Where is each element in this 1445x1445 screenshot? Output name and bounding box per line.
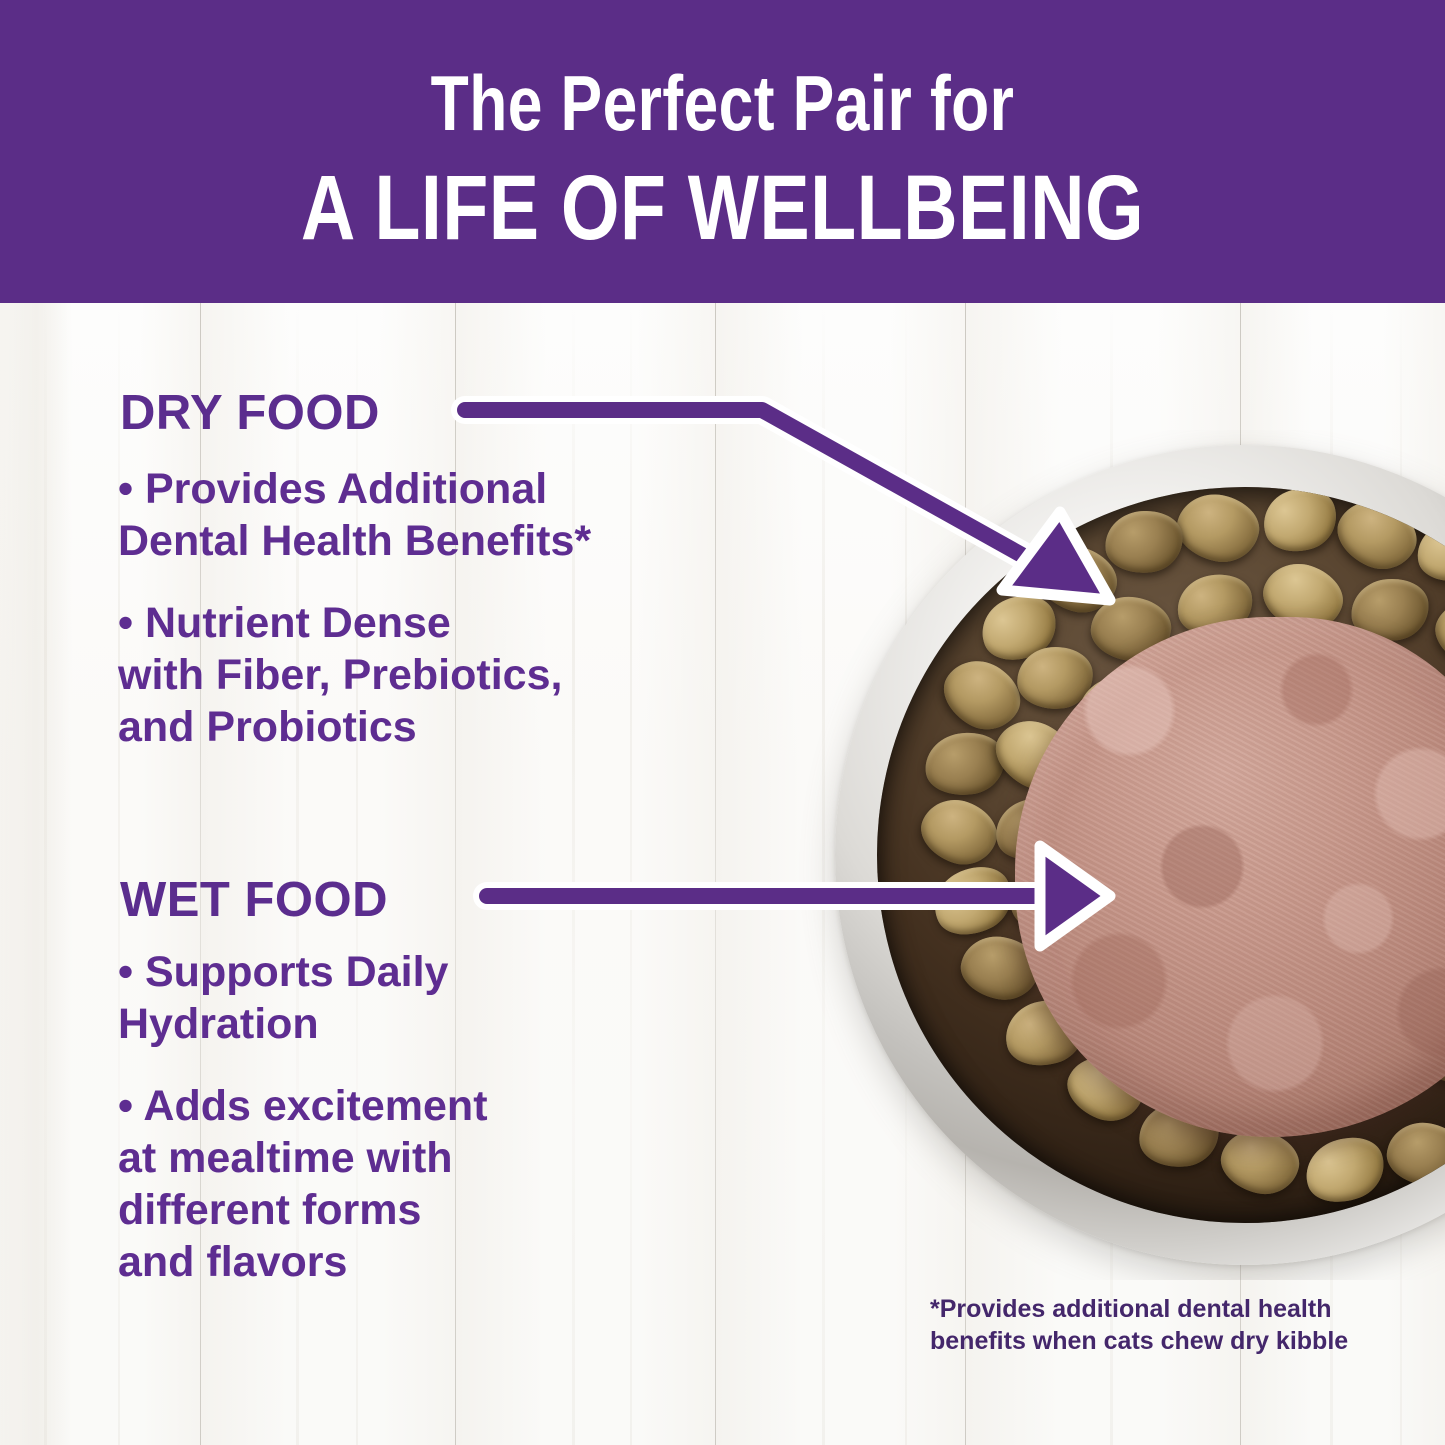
bullet-item: • Adds excitement at mealtime with diffe…: [118, 1080, 758, 1288]
callout-bullets-dry-food: • Provides Additional Dental Health Bene…: [118, 463, 758, 753]
callout-title-dry-food: DRY FOOD: [120, 385, 380, 441]
bullet-item: • Nutrient Dense with Fiber, Prebiotics,…: [118, 597, 758, 753]
bullet-item: • Supports Daily Hydration: [118, 946, 758, 1050]
bullet-line: different forms: [118, 1186, 421, 1234]
bullet-line: • Adds excitement: [118, 1082, 488, 1130]
bullet-line: • Provides Additional: [118, 465, 547, 513]
header-banner: The Perfect Pair for A LIFE OF WELLBEING: [0, 0, 1445, 303]
bullet-line: at mealtime with: [118, 1134, 453, 1182]
marketing-infographic: The Perfect Pair for A LIFE OF WELLBEING: [0, 0, 1445, 1445]
bullet-line: and Probiotics: [118, 703, 417, 751]
steel-bowl: [835, 445, 1445, 1265]
wet-food-pate: [1015, 617, 1445, 1137]
bullet-line: • Supports Daily: [118, 948, 448, 996]
footnote-line2: benefits when cats chew dry kibble: [930, 1325, 1360, 1357]
bullet-line: • Nutrient Dense: [118, 599, 451, 647]
bullet-line: with Fiber, Prebiotics,: [118, 651, 562, 699]
bullet-line: and flavors: [118, 1238, 347, 1286]
footnote: *Provides additional dental health benef…: [930, 1293, 1360, 1357]
food-bowl-photo: [790, 430, 1445, 1280]
callout-bullets-wet-food: • Supports Daily Hydration • Adds excite…: [118, 946, 758, 1288]
header-title-line2: A LIFE OF WELLBEING: [130, 160, 1315, 256]
callout-title-wet-food: WET FOOD: [120, 872, 388, 928]
bullet-line: Dental Health Benefits*: [118, 517, 591, 565]
header-title-line1: The Perfect Pair for: [145, 62, 1301, 144]
footnote-line1: *Provides additional dental health: [930, 1293, 1360, 1325]
bullet-line: Hydration: [118, 1000, 319, 1048]
bullet-item: • Provides Additional Dental Health Bene…: [118, 463, 758, 567]
pate-texture: [1015, 617, 1445, 1137]
bowl-interior: [877, 487, 1445, 1223]
